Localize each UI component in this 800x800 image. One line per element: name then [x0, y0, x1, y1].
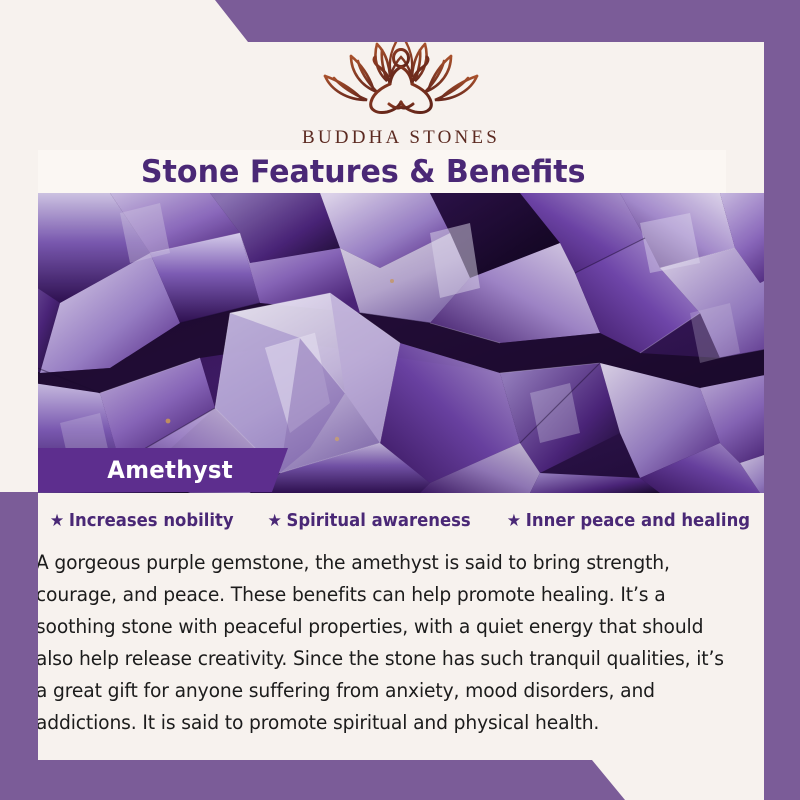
benefit-item: ★ Spiritual awareness: [268, 511, 471, 531]
lotus-meditation-icon: [315, 42, 487, 125]
stone-name-label: Amethyst: [107, 456, 233, 484]
decorative-border-bottom: [0, 760, 800, 800]
benefits-row: ★ Increases nobility ★ Spiritual awarene…: [38, 511, 764, 531]
brand-logo: BUDDHA STONES: [38, 42, 764, 149]
header: BUDDHA STONES Stone Features & Benefits: [38, 42, 764, 193]
benefit-label: Increases nobility: [69, 511, 234, 531]
content-card: BUDDHA STONES Stone Features & Benefits: [38, 42, 764, 760]
stone-name-ribbon: Amethyst: [38, 448, 288, 492]
decorative-border-left: [0, 492, 38, 800]
benefit-label: Inner peace and healing: [526, 511, 750, 531]
benefit-item: ★ Inner peace and healing: [507, 511, 750, 531]
benefit-item: ★ Increases nobility: [50, 511, 234, 531]
star-icon: ★: [50, 513, 64, 530]
decorative-border-top: [0, 0, 800, 42]
star-icon: ★: [507, 513, 521, 530]
decorative-border-right: [764, 0, 800, 800]
brand-name: BUDDHA STONES: [302, 127, 500, 149]
page-frame: BUDDHA STONES Stone Features & Benefits: [0, 0, 800, 800]
stone-description: A gorgeous purple gemstone, the amethyst…: [38, 547, 731, 739]
benefit-label: Spiritual awareness: [287, 511, 471, 531]
title-banner: Stone Features & Benefits: [38, 150, 726, 193]
page-title: Stone Features & Benefits: [141, 154, 586, 190]
star-icon: ★: [268, 513, 282, 530]
